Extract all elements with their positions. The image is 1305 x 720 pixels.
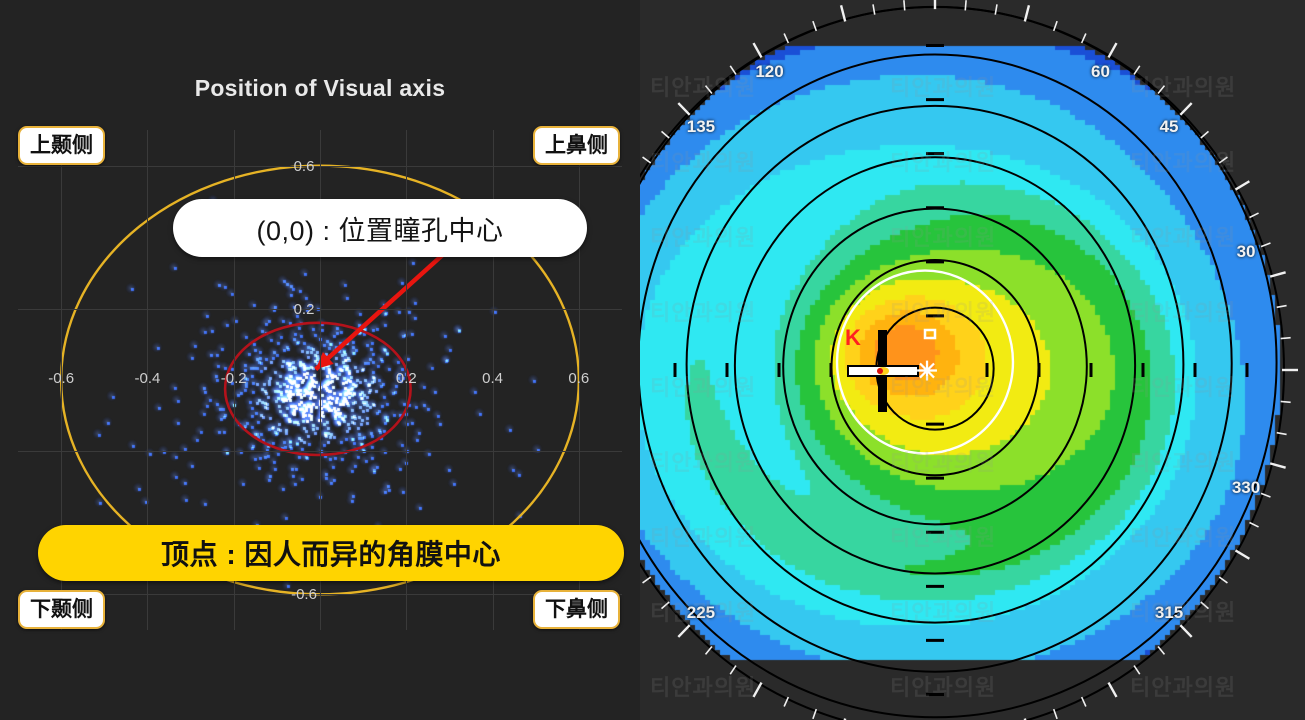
meridian-angle-label: 225 — [687, 603, 715, 623]
meridian-angle-label: 330 — [1232, 478, 1260, 498]
meridian-angle-label: 315 — [1155, 603, 1183, 623]
meridian-tick — [904, 0, 905, 10]
meridian-angle-label: 135 — [687, 117, 715, 137]
meridian-angle-label: 60 — [1091, 62, 1110, 82]
crosshair-red-dot — [877, 368, 883, 374]
meridian-tick — [678, 625, 689, 637]
screenshot-root: Position of Visual axis -0.6-0.4-0.20.20… — [0, 0, 1305, 720]
quadrant-label-superior-nasal: 上鼻侧 — [533, 126, 620, 165]
asterisk-marker-icon: ✳ — [916, 356, 938, 386]
inner-dispersion-ellipse — [225, 323, 411, 455]
meridian-tick — [754, 43, 762, 57]
x-axis-tick-label: -0.6 — [48, 370, 74, 387]
meridian-tick — [1180, 103, 1191, 115]
topography-overlay: K✳ — [640, 0, 1305, 720]
meridian-tick — [1109, 43, 1117, 57]
meridian-tick — [1236, 550, 1250, 558]
meridian-tick — [1281, 401, 1291, 402]
quadrant-label-inferior-temporal: 下颞侧 — [18, 590, 105, 629]
meridian-tick — [1180, 625, 1191, 637]
x-axis-tick-label: -0.4 — [134, 370, 160, 387]
map-boundary-circle — [640, 7, 1284, 720]
meridian-tick — [1281, 338, 1291, 339]
corneal-topography-panel: K✳ 1201355010225315330304560티안과의원티안과의원티안… — [640, 0, 1305, 720]
meridian-tick — [1236, 181, 1250, 189]
meridian-angle-label: 120 — [755, 62, 783, 82]
meridian-angle-label: 30 — [1237, 242, 1256, 262]
y-axis-tick-label: 0.2 — [294, 301, 315, 318]
callout-pupil-center: (0,0) : 位置瞳孔中心 — [173, 199, 587, 257]
meridian-tick — [678, 103, 689, 115]
page-title: Position of Visual axis — [0, 75, 640, 102]
square-marker-icon — [925, 330, 935, 338]
y-axis-tick-label: 0.6 — [294, 158, 315, 175]
gridline-horizontal — [18, 451, 622, 452]
meridian-tick — [965, 0, 966, 10]
x-axis-tick-label: -0.2 — [221, 370, 247, 387]
meridian-angle-label: 45 — [1160, 117, 1179, 137]
quadrant-label-inferior-nasal: 下鼻侧 — [533, 590, 620, 629]
gridline-horizontal — [18, 309, 622, 310]
callout-corneal-apex: 顶点 : 因人而异的角膜中心 — [38, 525, 624, 581]
visual-axis-scatter-panel: Position of Visual axis -0.6-0.4-0.20.20… — [0, 0, 640, 720]
meridian-tick — [754, 683, 762, 697]
gridline-horizontal — [18, 594, 622, 595]
gridline-horizontal — [18, 166, 622, 167]
y-axis-tick-label: -0.6 — [291, 586, 317, 603]
x-axis-tick-label: 0.2 — [396, 370, 417, 387]
x-axis-tick-label: 0.4 — [482, 370, 503, 387]
quadrant-label-superior-temporal: 上颞侧 — [18, 126, 105, 165]
meridian-tick — [1109, 683, 1117, 697]
k-marker-icon: K — [845, 325, 861, 350]
x-axis-tick-label: 0.6 — [568, 370, 589, 387]
